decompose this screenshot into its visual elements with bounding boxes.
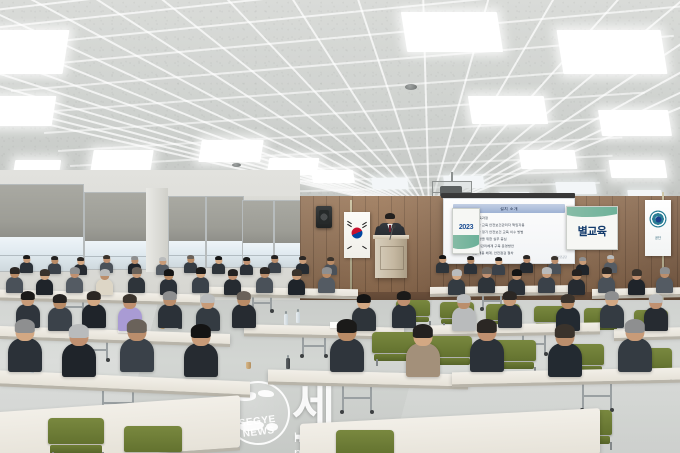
attendee-torso bbox=[256, 277, 273, 294]
attendee bbox=[628, 270, 645, 295]
attendee-hair bbox=[187, 255, 195, 259]
attendee bbox=[656, 268, 673, 293]
chair-back bbox=[336, 430, 394, 453]
attendee-hair bbox=[495, 257, 503, 261]
attendee bbox=[240, 258, 253, 275]
attendee-hair bbox=[511, 269, 521, 276]
attendee-hair bbox=[631, 269, 641, 276]
attendee-torso bbox=[470, 338, 504, 372]
attendee bbox=[8, 320, 42, 372]
attendee bbox=[478, 268, 495, 293]
lectern bbox=[375, 238, 407, 278]
institution-flag-text: 공단 bbox=[645, 235, 671, 240]
trigram-icon bbox=[347, 246, 352, 249]
attendee-torso bbox=[464, 263, 477, 274]
attendee-hair bbox=[397, 291, 411, 300]
attendee bbox=[448, 270, 465, 295]
attendee bbox=[538, 268, 555, 293]
attendee-hair bbox=[571, 269, 581, 276]
ceiling-light-panel bbox=[0, 30, 69, 74]
seminar-room-photo: 설치 소개 공통 필수 교육과정 사업장 관리자 교육 안전보건관리자 책임자용… bbox=[0, 0, 680, 453]
institution-flag: 공단 bbox=[645, 200, 671, 256]
right-standing-banner: 별교육 bbox=[566, 206, 618, 250]
attendee bbox=[192, 268, 209, 293]
attendee-torso bbox=[232, 304, 256, 328]
attendee-hair bbox=[163, 269, 173, 276]
window-blind-1 bbox=[0, 185, 83, 237]
attendee bbox=[62, 325, 96, 377]
attendee-hair bbox=[601, 267, 611, 274]
attendee-hair bbox=[39, 269, 49, 276]
attendee-hair bbox=[259, 267, 269, 274]
attendee-hair bbox=[477, 319, 497, 333]
attendee-hair bbox=[215, 256, 223, 260]
attendee-hair bbox=[243, 257, 251, 261]
attendee-hair bbox=[131, 256, 139, 260]
attendee-torso bbox=[538, 277, 555, 294]
attendee-hair bbox=[69, 267, 79, 274]
attendee bbox=[184, 325, 218, 377]
attendee-torso bbox=[288, 279, 305, 296]
attendee-torso bbox=[478, 277, 495, 294]
ceiling-light-panel bbox=[90, 150, 153, 172]
attendee-hair bbox=[541, 267, 551, 274]
ceiling-light-panel bbox=[609, 160, 668, 178]
attendee bbox=[548, 325, 582, 377]
attendee bbox=[470, 320, 504, 372]
olive-chair[interactable] bbox=[336, 430, 394, 453]
attendee-torso bbox=[628, 279, 645, 296]
attendee-torso bbox=[548, 343, 582, 377]
window-1 bbox=[0, 184, 84, 272]
table-legs bbox=[300, 336, 328, 356]
attendee-hair bbox=[659, 267, 669, 274]
attendee-hair bbox=[451, 269, 461, 276]
water-bottle bbox=[296, 312, 300, 323]
attendee-hair bbox=[291, 269, 301, 276]
water-bottle bbox=[284, 314, 288, 325]
attendee-hair bbox=[87, 291, 101, 300]
attendee-hair bbox=[337, 319, 357, 333]
attendee-torso bbox=[618, 338, 652, 372]
attendee-torso bbox=[6, 277, 23, 294]
attendee-torso bbox=[406, 343, 440, 377]
attendee-hair bbox=[51, 256, 59, 260]
attendee-hair bbox=[605, 291, 619, 300]
attendee-hair bbox=[551, 256, 559, 260]
attendee-torso bbox=[240, 264, 253, 275]
chair-back bbox=[48, 418, 104, 444]
chair-back bbox=[124, 426, 182, 452]
attendee-hair bbox=[237, 291, 251, 300]
institution-emblem-icon bbox=[650, 211, 667, 228]
attendee-hair bbox=[555, 324, 575, 338]
ceiling-light-panel bbox=[371, 178, 409, 189]
banner-swoosh-left bbox=[452, 235, 480, 249]
attendee bbox=[256, 268, 273, 293]
attendee-torso bbox=[192, 277, 209, 294]
ceiling-vent-icon bbox=[232, 163, 241, 167]
wall-speaker-icon bbox=[316, 206, 332, 228]
attendee bbox=[82, 292, 106, 328]
attendee-torso bbox=[448, 279, 465, 296]
water-bottle bbox=[286, 358, 290, 369]
attendee bbox=[618, 320, 652, 372]
attendee-torso bbox=[158, 304, 182, 328]
taegukgi-flag bbox=[344, 212, 370, 258]
ceiling-light-panel bbox=[198, 140, 263, 162]
attendee-hair bbox=[327, 257, 335, 261]
attendee bbox=[406, 325, 440, 377]
ceiling-speaker-icon bbox=[405, 84, 417, 90]
attendee bbox=[66, 268, 83, 293]
attendee-hair bbox=[201, 294, 215, 303]
attendee bbox=[330, 320, 364, 372]
attendee-torso bbox=[62, 343, 96, 377]
ceiling-light-panel bbox=[311, 170, 355, 183]
attendee bbox=[318, 268, 335, 293]
ceiling-light-panel bbox=[468, 96, 548, 124]
window-3 bbox=[168, 196, 244, 268]
trigram-icon bbox=[362, 225, 367, 228]
trigram-icon bbox=[362, 246, 367, 249]
attendee-hair bbox=[357, 294, 371, 303]
attendee bbox=[128, 268, 145, 293]
olive-chair[interactable] bbox=[124, 426, 182, 453]
attendee-torso bbox=[8, 338, 42, 372]
attendee bbox=[120, 320, 154, 372]
attendee bbox=[158, 292, 182, 328]
attendee-hair bbox=[625, 319, 645, 333]
attendee-torso bbox=[128, 277, 145, 294]
window-mullion-3 bbox=[205, 197, 207, 267]
attendee-hair bbox=[413, 324, 433, 338]
attendee-hair bbox=[131, 267, 141, 274]
table-legs bbox=[340, 384, 374, 412]
attendee-hair bbox=[191, 324, 211, 338]
slide-title: 설치 소개 bbox=[500, 206, 518, 211]
attendee-hair bbox=[99, 269, 109, 276]
ceiling-light-panel bbox=[0, 96, 56, 126]
attendee-hair bbox=[579, 257, 587, 261]
attendee bbox=[598, 268, 615, 293]
attendee-hair bbox=[77, 257, 85, 261]
attendee-hair bbox=[439, 255, 447, 259]
attendee-hair bbox=[23, 255, 31, 259]
attendee-torso bbox=[120, 338, 154, 372]
attendee-torso bbox=[184, 343, 218, 377]
slide-bullet: 재난 대응 체계, 안전점검 절차 bbox=[471, 252, 565, 256]
table-legs bbox=[580, 382, 614, 410]
ceiling-light-panel bbox=[598, 110, 672, 136]
attendee-hair bbox=[103, 255, 111, 259]
banner-text-right: 별교육 bbox=[567, 223, 617, 239]
attendee-hair bbox=[321, 267, 331, 274]
attendee-hair bbox=[299, 256, 307, 260]
attendee-hair bbox=[123, 294, 137, 303]
ceiling-light-panel bbox=[401, 12, 503, 52]
attendee-hair bbox=[457, 294, 471, 303]
attendee-torso bbox=[318, 277, 335, 294]
attendee-torso bbox=[656, 277, 673, 294]
left-standing-banner: 2023 bbox=[452, 208, 480, 254]
presenter-hair bbox=[385, 213, 395, 219]
attendee-hair bbox=[649, 294, 663, 303]
olive-chair[interactable] bbox=[48, 418, 104, 453]
attendee-torso bbox=[568, 279, 585, 296]
banner-year-left: 2023 bbox=[453, 224, 479, 231]
attendee-hair bbox=[271, 255, 279, 259]
attendee-hair bbox=[467, 256, 475, 260]
attendee-hair bbox=[9, 267, 19, 274]
attendee bbox=[392, 292, 416, 328]
attendee-hair bbox=[15, 319, 35, 333]
attendee-torso bbox=[66, 277, 83, 294]
attendee-hair bbox=[607, 255, 615, 259]
attendee bbox=[288, 270, 305, 295]
attendee bbox=[568, 270, 585, 295]
attendee-hair bbox=[227, 269, 237, 276]
attendee-hair bbox=[503, 291, 517, 300]
attendee-hair bbox=[561, 294, 575, 303]
attendee bbox=[464, 257, 477, 274]
attendee-hair bbox=[195, 267, 205, 274]
window-blind-2 bbox=[85, 193, 147, 241]
attendee-hair bbox=[159, 257, 167, 261]
ceiling-light-panel bbox=[518, 150, 577, 169]
attendee bbox=[6, 268, 23, 293]
attendee bbox=[232, 292, 256, 328]
attendee-hair bbox=[163, 291, 177, 300]
paper-cup bbox=[246, 362, 251, 369]
attendee-hair bbox=[69, 324, 89, 338]
attendee-torso bbox=[330, 338, 364, 372]
lectern-front-panel bbox=[380, 246, 404, 270]
attendee-hair bbox=[481, 267, 491, 274]
attendee-hair bbox=[53, 294, 67, 303]
banner-swoosh-right bbox=[566, 206, 618, 217]
ceiling-light-panel bbox=[557, 30, 668, 74]
attendee-hair bbox=[127, 319, 147, 333]
window-glass-1 bbox=[0, 237, 83, 271]
attendee-hair bbox=[523, 255, 531, 259]
attendee-hair bbox=[21, 291, 35, 300]
